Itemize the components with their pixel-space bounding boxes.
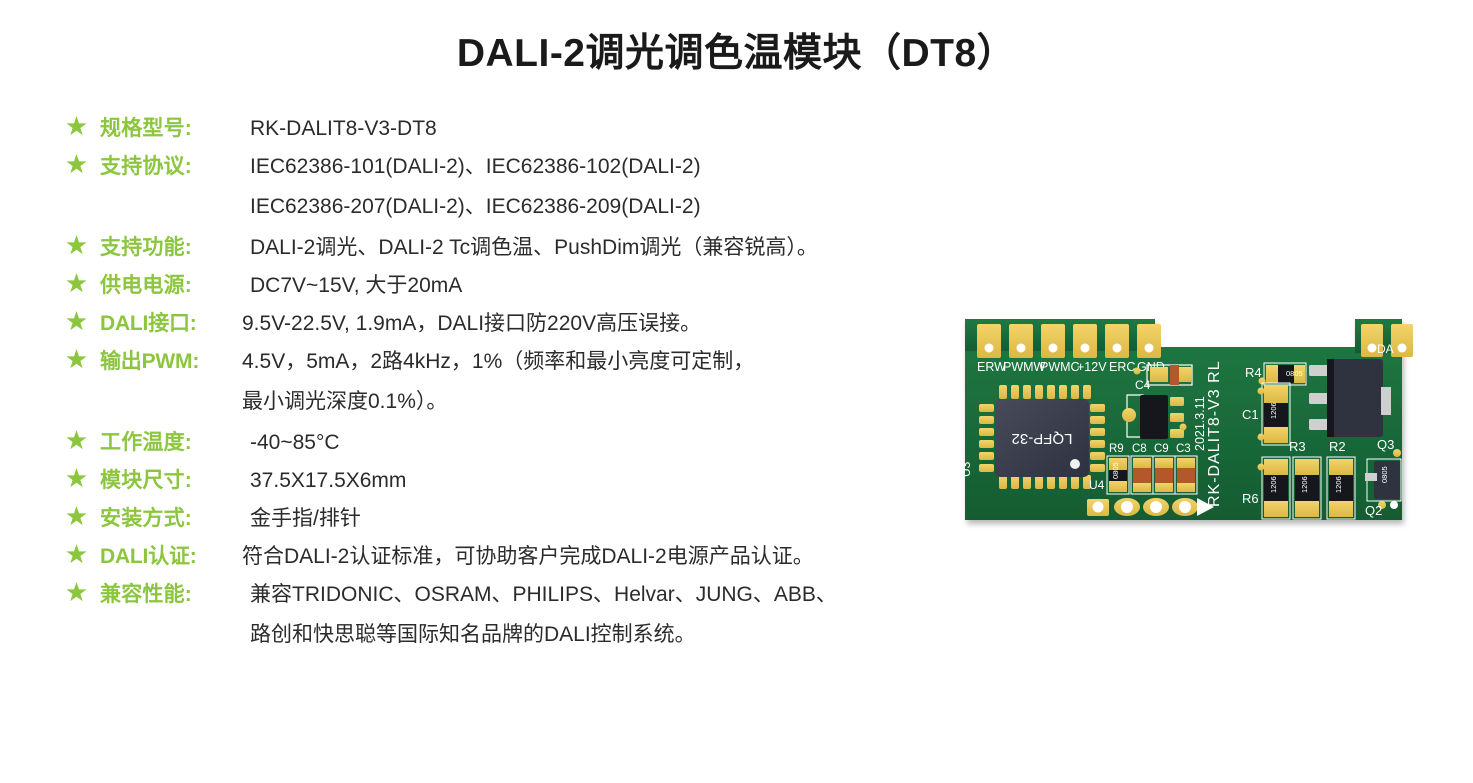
spec-label: 供电电源: xyxy=(100,269,250,303)
smd-code: 1206 xyxy=(1300,476,1309,493)
spec-value: -40~85°C xyxy=(250,426,1046,460)
smd-code: 0805 xyxy=(1286,369,1303,378)
spec-row: DALI接口: 9.5V-22.5V, 1.9mA，DALI接口防220V高压误… xyxy=(66,307,1046,344)
spec-value-line: 路创和快思聪等国际知名品牌的DALI控制系统。 xyxy=(250,612,1046,657)
spec-value: 4.5V，5mA，2路4kHz，1%（频率和最小亮度可定制， 最小调光深度0.1… xyxy=(242,345,1046,424)
smd-code: 0805 xyxy=(1111,462,1120,479)
star-icon xyxy=(66,154,87,175)
star-icon xyxy=(66,582,87,603)
spec-label: 支持功能: xyxy=(100,231,250,265)
silkscreen-date: 2021.3.11 xyxy=(1193,396,1207,451)
spec-value: DALI-2调光、DALI-2 Tc调色温、PushDim调光（兼容锐高）。 xyxy=(250,231,1046,265)
star-icon xyxy=(66,273,87,294)
pcb-illustration: ERW PWMW PWMC +12V ERC GND DA xyxy=(957,307,1427,537)
spec-value-line: 兼容TRIDONIC、OSRAM、PHILIPS、Helvar、JUNG、ABB… xyxy=(250,578,1046,612)
smd-code: 1206 xyxy=(1269,402,1278,419)
star-icon xyxy=(66,544,87,565)
spec-value: 符合DALI-2认证标准，可协助客户完成DALI-2电源产品认证。 xyxy=(242,540,1046,574)
designator-c9: C9 xyxy=(1154,443,1169,455)
spec-value: 金手指/排针 xyxy=(250,502,1046,536)
spec-value-line: 9.5V-22.5V, 1.9mA，DALI接口防220V高压误接。 xyxy=(242,307,1046,341)
designator-c1: C1 xyxy=(1242,407,1259,422)
spec-label: 支持协议: xyxy=(100,150,250,184)
designator-u3: U3 xyxy=(959,461,973,477)
spec-row: 规格型号: RK-DALIT8-V3-DT8 xyxy=(66,112,1046,149)
smd-code: 1206 xyxy=(1269,476,1278,493)
product-spec-sheet: DALI-2调光调色温模块（DT8） 规格型号: RK-DALIT8-V3-DT… xyxy=(0,0,1473,783)
designator-q2: Q2 xyxy=(1365,503,1382,518)
spec-label: 安装方式: xyxy=(100,502,250,536)
spec-value: 兼容TRIDONIC、OSRAM、PHILIPS、Helvar、JUNG、ABB… xyxy=(250,578,1046,657)
star-icon xyxy=(66,235,87,256)
spec-value: 9.5V-22.5V, 1.9mA，DALI接口防220V高压误接。 xyxy=(242,307,1046,341)
spec-value-line: 37.5X17.5X6mm xyxy=(250,464,1046,498)
specification-list: 规格型号: RK-DALIT8-V3-DT8 支持协议: IEC62386-10… xyxy=(66,112,1046,659)
pin-label: PWMC xyxy=(1040,360,1080,374)
pin-label: +12V xyxy=(1077,360,1107,374)
spec-row: 支持协议: IEC62386-101(DALI-2)、IEC62386-102(… xyxy=(66,150,1046,230)
pin-label: ERW xyxy=(977,360,1006,374)
spec-value: RK-DALIT8-V3-DT8 xyxy=(250,112,1046,146)
spec-label: 兼容性能: xyxy=(100,578,250,612)
spec-value-line: DC7V~15V, 大于20mA xyxy=(250,269,1046,303)
lqfp32-chip: LQFP-32 xyxy=(979,385,1105,489)
star-bullet xyxy=(66,464,100,489)
spec-value-line: IEC62386-207(DALI-2)、IEC62386-209(DALI-2… xyxy=(250,184,1046,229)
spec-value: IEC62386-101(DALI-2)、IEC62386-102(DALI-2… xyxy=(250,150,1046,229)
smd-code: 1206 xyxy=(1334,476,1343,493)
spec-row: 工作温度: -40~85°C xyxy=(66,426,1046,463)
designator-r9: R9 xyxy=(1109,443,1124,455)
star-icon xyxy=(66,468,87,489)
star-icon xyxy=(66,311,87,332)
designator-r6: R6 xyxy=(1242,491,1259,506)
spec-label: DALI认证: xyxy=(100,540,248,574)
star-bullet xyxy=(66,345,100,370)
pcb-product-image: ERW PWMW PWMC +12V ERC GND DA xyxy=(957,307,1427,537)
designator-c4: C4 xyxy=(1135,378,1151,392)
chip-label: LQFP-32 xyxy=(1012,430,1073,447)
spec-value-line: IEC62386-101(DALI-2)、IEC62386-102(DALI-2… xyxy=(250,150,1046,184)
spec-label: DALI接口: xyxy=(100,307,248,341)
spec-value-line: 4.5V，5mA，2路4kHz，1%（频率和最小亮度可定制， xyxy=(242,345,1046,379)
star-bullet xyxy=(66,540,100,565)
dali-pad-label: DA xyxy=(1377,342,1394,356)
spec-value-line: 最小调光深度0.1%）。 xyxy=(242,379,1046,424)
spec-row: 模块尺寸: 37.5X17.5X6mm xyxy=(66,464,1046,501)
star-bullet xyxy=(66,307,100,332)
spec-value-line: 金手指/排针 xyxy=(250,502,1046,536)
spec-label: 工作温度: xyxy=(100,426,250,460)
spec-row: 供电电源: DC7V~15V, 大于20mA xyxy=(66,269,1046,306)
spec-row: 输出PWM: 4.5V，5mA，2路4kHz，1%（频率和最小亮度可定制， 最小… xyxy=(66,345,1046,425)
spec-row: DALI认证: 符合DALI-2认证标准，可协助客户完成DALI-2电源产品认证… xyxy=(66,540,1046,577)
star-icon xyxy=(66,349,87,370)
smd-code: 0805 xyxy=(1380,466,1389,483)
designator-q3: Q3 xyxy=(1377,437,1394,452)
star-bullet xyxy=(66,231,100,256)
star-bullet xyxy=(66,426,100,451)
designator-c3: C3 xyxy=(1176,443,1191,455)
star-bullet xyxy=(66,150,100,175)
page-title: DALI-2调光调色温模块（DT8） xyxy=(0,22,1473,78)
spec-row: 安装方式: 金手指/排针 xyxy=(66,502,1046,539)
designator-r2: R2 xyxy=(1329,439,1346,454)
star-icon xyxy=(66,430,87,451)
star-icon xyxy=(66,116,87,137)
spec-value-line: 符合DALI-2认证标准，可协助客户完成DALI-2电源产品认证。 xyxy=(242,540,1046,574)
spec-value-line: RK-DALIT8-V3-DT8 xyxy=(250,112,1046,146)
spec-value-line: DALI-2调光、DALI-2 Tc调色温、PushDim调光（兼容锐高）。 xyxy=(250,231,1046,265)
star-bullet xyxy=(66,269,100,294)
designator-c8: C8 xyxy=(1132,443,1147,455)
silkscreen-model: RK-DALIT8-V3 RL xyxy=(1206,360,1223,507)
designator-u4: U4 xyxy=(1089,478,1105,492)
spec-row: 兼容性能: 兼容TRIDONIC、OSRAM、PHILIPS、Helvar、JU… xyxy=(66,578,1046,658)
star-bullet xyxy=(66,502,100,527)
star-icon xyxy=(66,506,87,527)
designator-r3: R3 xyxy=(1289,439,1306,454)
star-bullet xyxy=(66,578,100,603)
spec-value: 37.5X17.5X6mm xyxy=(250,464,1046,498)
pin-label: ERC xyxy=(1109,360,1135,374)
star-bullet xyxy=(66,112,100,137)
spec-label: 规格型号: xyxy=(100,112,250,146)
designator-r4: R4 xyxy=(1245,365,1262,380)
spec-value-line: -40~85°C xyxy=(250,426,1046,460)
spec-label: 输出PWM: xyxy=(100,345,248,379)
spec-value: DC7V~15V, 大于20mA xyxy=(250,269,1046,303)
spec-row: 支持功能: DALI-2调光、DALI-2 Tc调色温、PushDim调光（兼容… xyxy=(66,231,1046,268)
spec-label: 模块尺寸: xyxy=(100,464,250,498)
